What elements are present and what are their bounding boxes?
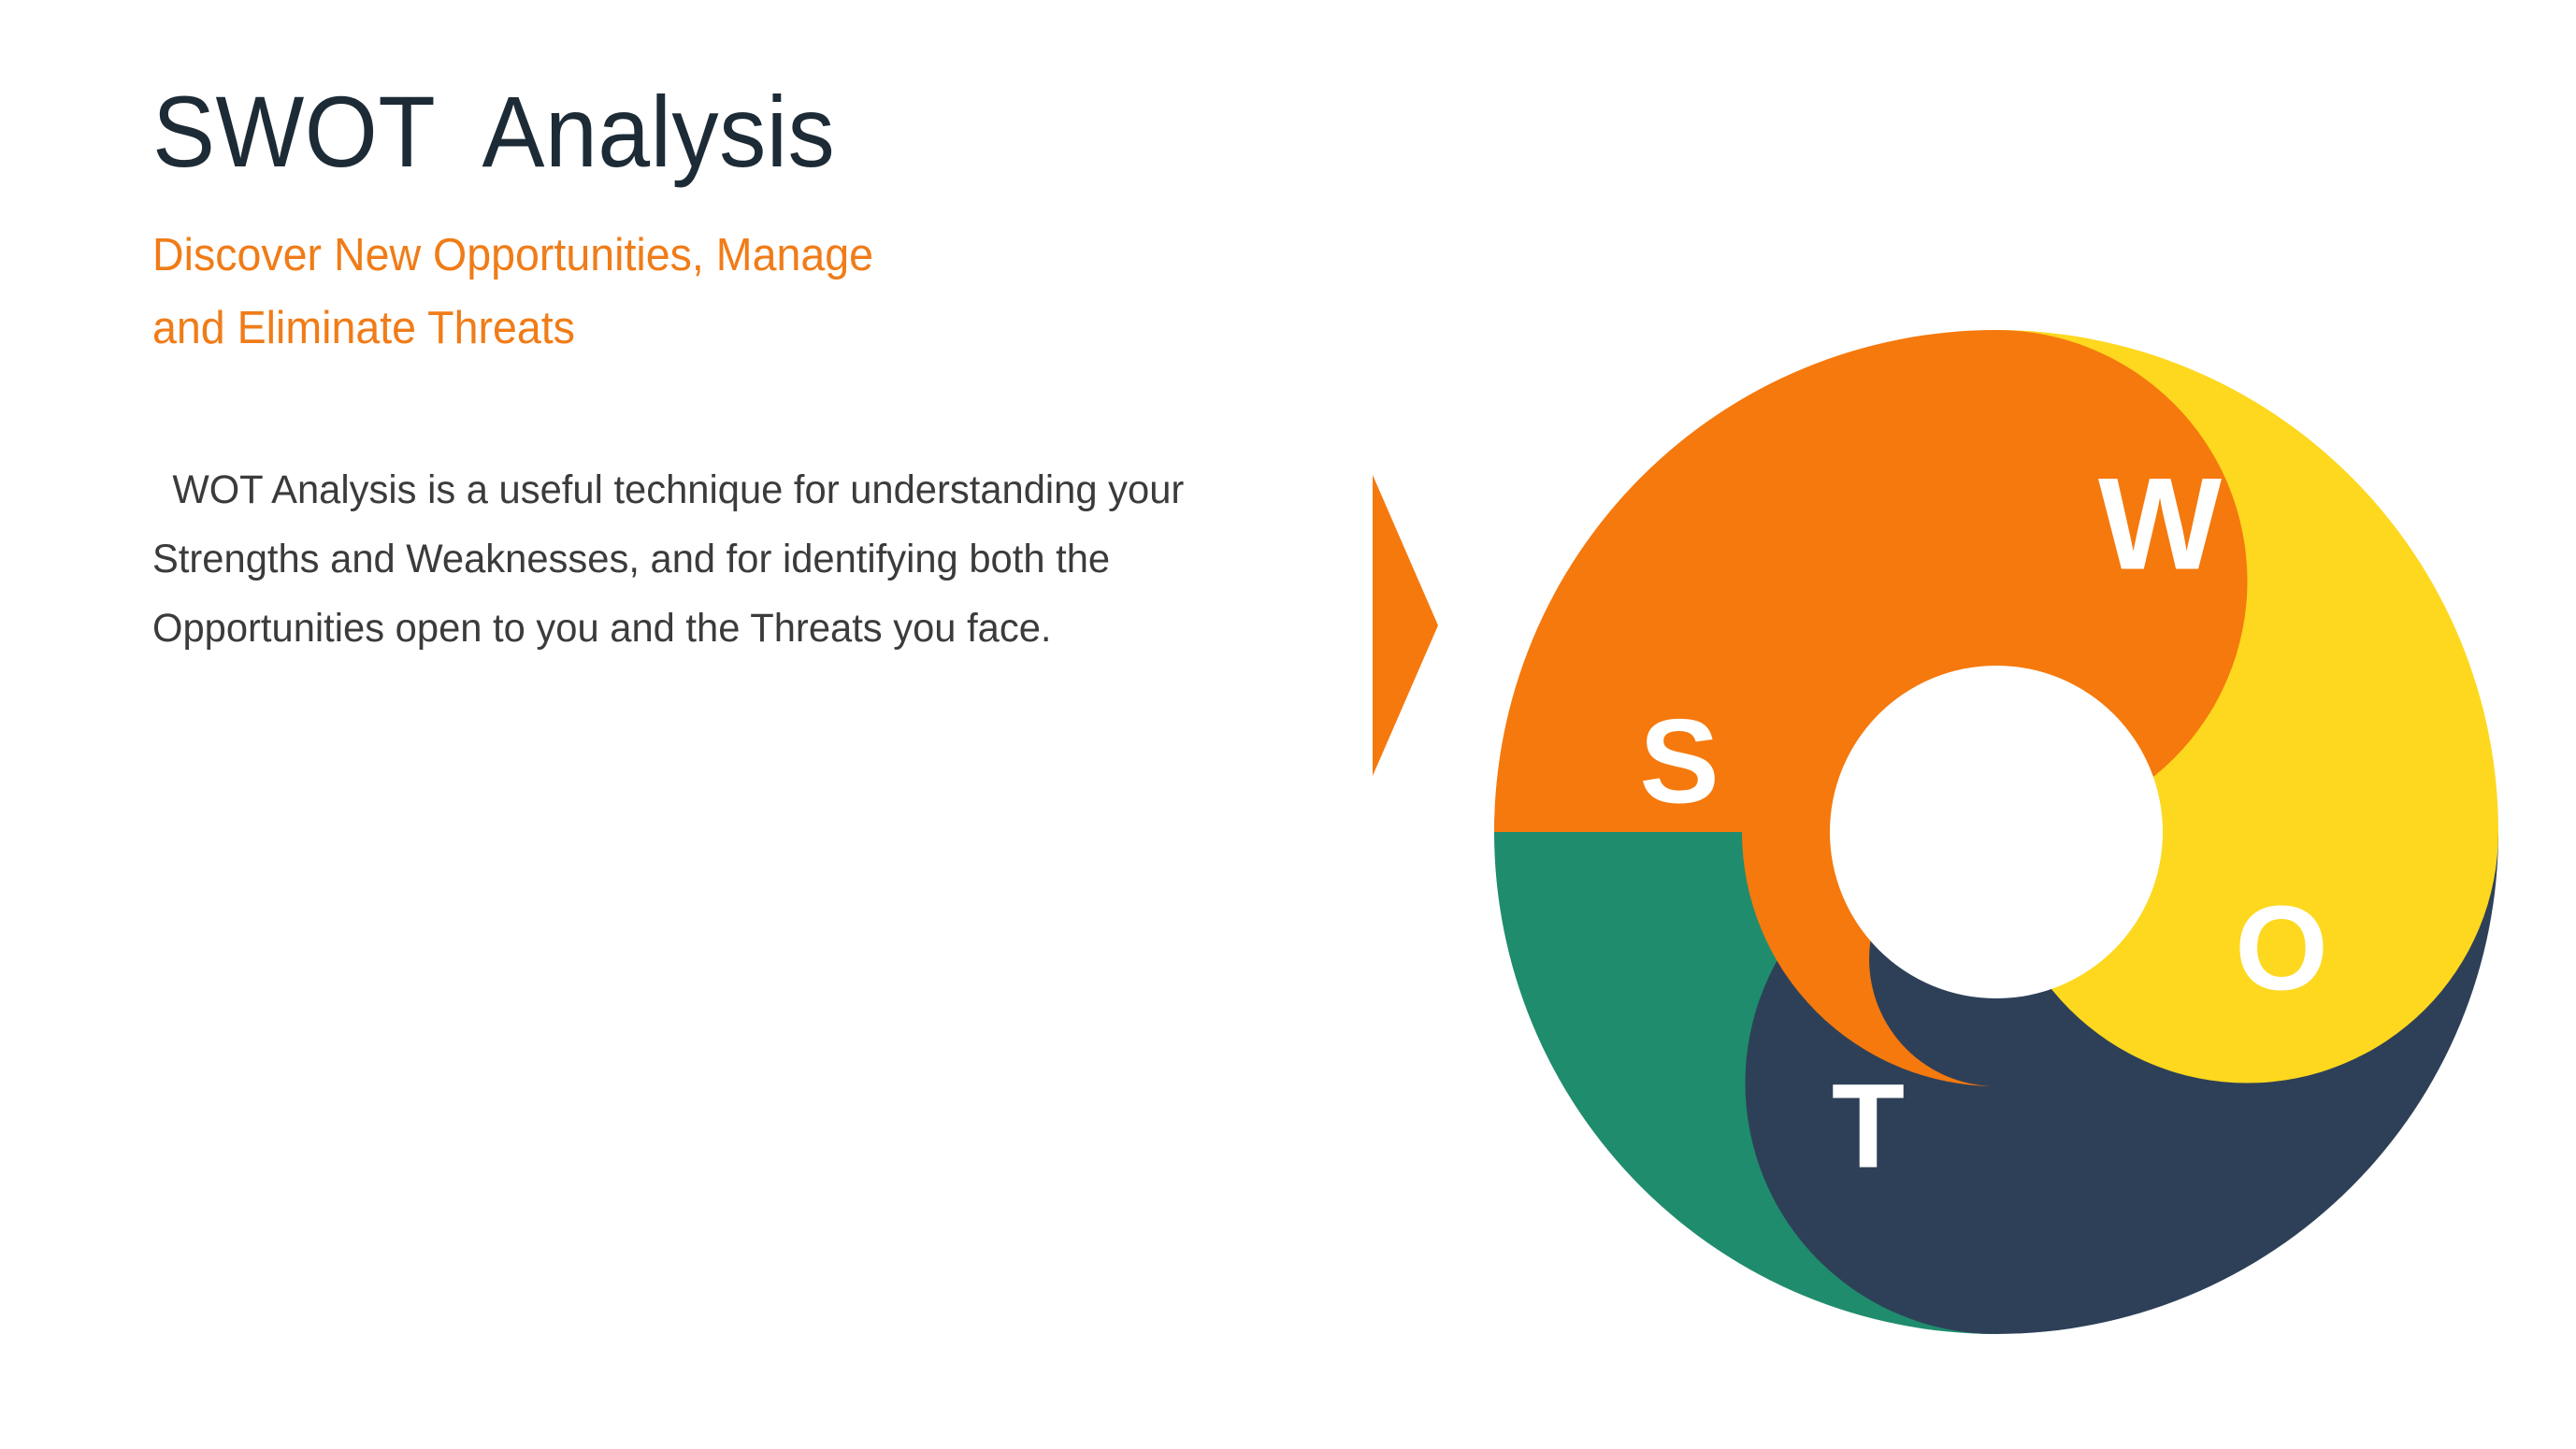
center-hub	[1830, 666, 2163, 998]
body-line-3: Opportunities open to you and the Threat…	[152, 595, 1331, 664]
body-paragraph: WOT Analysis is a useful technique for u…	[152, 374, 1331, 664]
page-title: SWOT Analysis	[152, 80, 1283, 183]
subtitle-line-1: Discover New Opportunities, Manage	[152, 228, 1307, 301]
swot-letter-S: S	[1639, 696, 1719, 829]
swot-letter-W: W	[2098, 451, 2222, 597]
body-line-1: WOT Analysis is a useful technique for u…	[152, 456, 1331, 525]
text-column: SWOT Analysis Discover New Opportunities…	[152, 80, 1368, 664]
body-line-2: Strengths and Weaknesses, and for identi…	[152, 525, 1331, 595]
orange-arrow-icon	[1373, 475, 1438, 776]
swot-analysis-slide: SWOT Analysis Discover New Opportunities…	[0, 0, 2576, 1449]
body-line-1-text: WOT Analysis is a useful technique for u…	[172, 467, 1184, 512]
swot-letter-T: T	[1832, 1060, 1905, 1194]
orange-arrow	[1373, 475, 1438, 776]
swot-swirl-diagram: S W O T	[1459, 294, 2534, 1370]
swot-letter-O: O	[2235, 882, 2328, 1016]
slide-subtitle: Discover New Opportunities, Manage and E…	[152, 183, 1307, 374]
subtitle-line-2: and Eliminate Threats	[152, 301, 1307, 374]
